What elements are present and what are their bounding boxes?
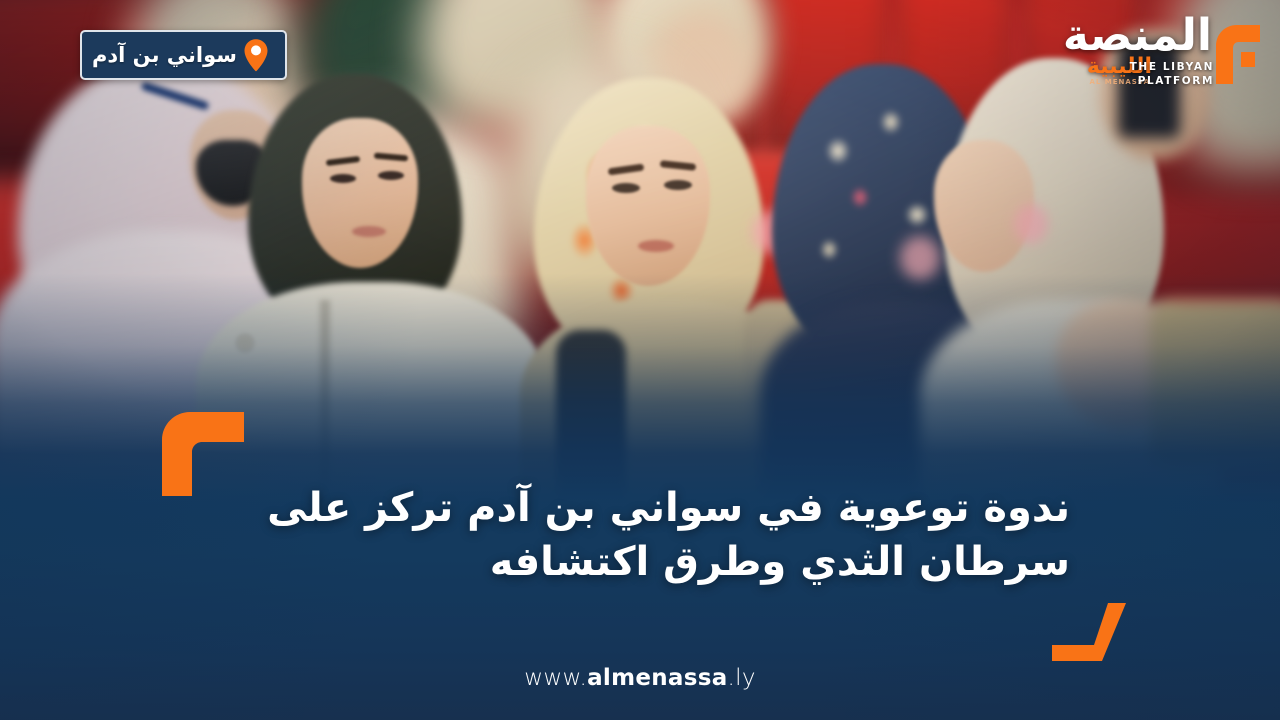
map-pin-icon (241, 38, 271, 72)
location-badge[interactable]: سواني بن آدم (80, 30, 287, 80)
logo-english-line-2: PLATFORM (1138, 75, 1214, 87)
logo-english-line-1: THE LIBYAN (1130, 61, 1214, 73)
location-badge-label: سواني بن آدم (92, 45, 237, 66)
url-name: almenassa (587, 665, 727, 691)
logo-english-tagline: THE LIBYAN PLATFORM (1130, 60, 1214, 88)
page-title: ندوة توعوية في سواني بن آدم تركز على سرط… (190, 482, 1070, 589)
url-prefix: www. (524, 665, 587, 691)
orange-tick-icon (1016, 603, 1126, 661)
url-suffix: .ly (728, 665, 756, 691)
news-card: سواني بن آدم المنصة الليبية AL MENASSA T… (0, 0, 1280, 720)
logo-arabic-name: المنصة (1063, 14, 1212, 58)
brand-logo[interactable]: المنصة الليبية AL MENASSA THE LIBYAN PLA… (1030, 8, 1266, 100)
footer-website-url[interactable]: www.almenassa.ly (0, 665, 1280, 691)
